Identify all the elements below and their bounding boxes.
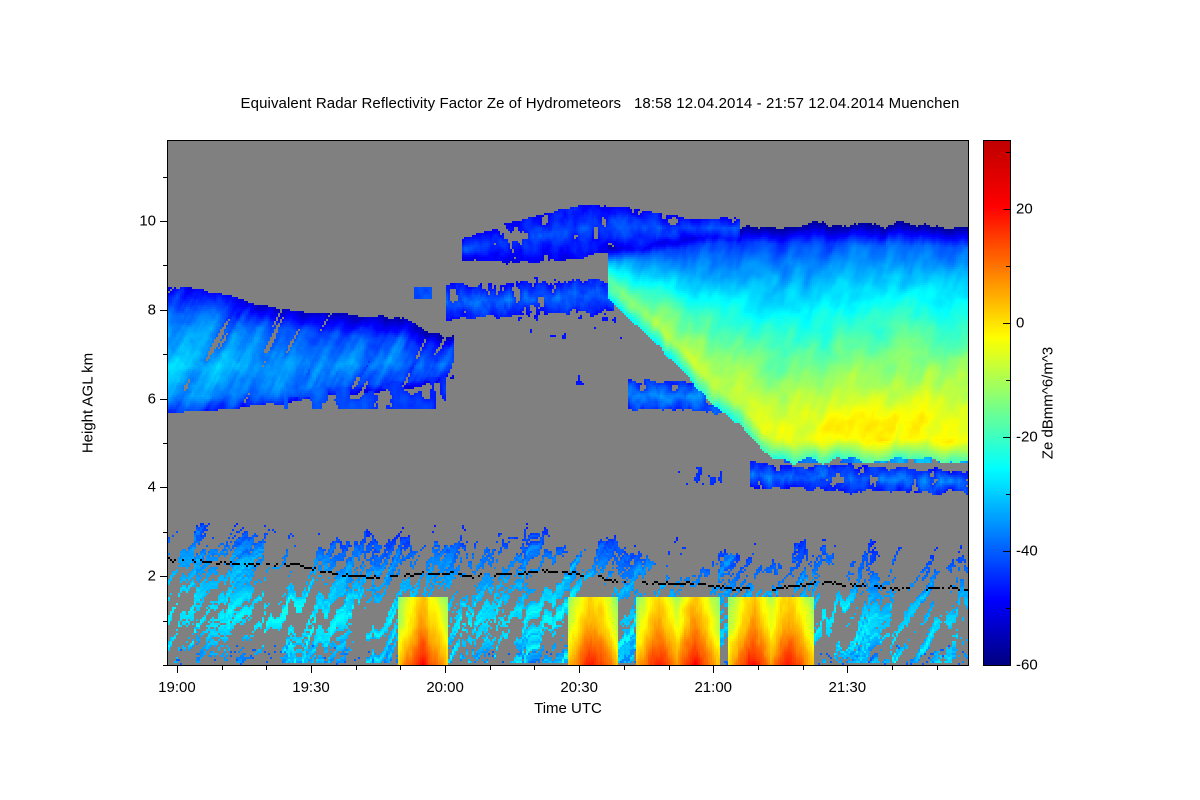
y-tick-label: 6 (116, 390, 156, 407)
reflectivity-heatmap (168, 141, 968, 665)
colorbar-tick-major (1003, 437, 1010, 438)
x-tick-minor (937, 665, 938, 670)
y-tick-major (160, 576, 168, 577)
x-tick-label: 19:00 (137, 679, 217, 696)
x-tick-minor (534, 665, 535, 670)
x-tick-major (445, 665, 446, 673)
colorbar-tick-label: 20 (1016, 201, 1033, 218)
y-tick-label: 10 (116, 212, 156, 229)
colorbar-tick-minor (1006, 494, 1010, 495)
y-tick-minor (163, 443, 168, 444)
x-tick-label: 21:00 (673, 679, 753, 696)
colorbar-gradient (984, 141, 1010, 665)
x-tick-major (177, 665, 178, 673)
y-tick-minor (163, 665, 168, 666)
colorbar-tick-minor (1006, 152, 1010, 153)
y-tick-label: 8 (116, 301, 156, 318)
colorbar-tick-minor (1006, 266, 1010, 267)
colorbar-title: Ze dBmm^6/m^3 (1040, 347, 1057, 459)
colorbar-tick-minor (1006, 608, 1010, 609)
colorbar-tick-major (1003, 551, 1010, 552)
colorbar-tick-label: 0 (1016, 315, 1024, 332)
x-tick-minor (803, 665, 804, 670)
colorbar-tick-minor (1006, 380, 1010, 381)
x-tick-minor (266, 665, 267, 670)
x-tick-minor (400, 665, 401, 670)
x-tick-major (579, 665, 580, 673)
x-tick-label: 20:00 (405, 679, 485, 696)
x-axis-title: Time UTC (534, 700, 602, 717)
colorbar-tick-label: -60 (1016, 657, 1038, 674)
y-tick-minor (163, 354, 168, 355)
colorbar-tick-major (1003, 665, 1010, 666)
y-tick-label: 4 (116, 479, 156, 496)
y-tick-major (160, 399, 168, 400)
y-tick-minor (163, 621, 168, 622)
x-tick-label: 21:30 (807, 679, 887, 696)
x-tick-label: 19:30 (271, 679, 351, 696)
x-tick-major (311, 665, 312, 673)
x-tick-minor (222, 665, 223, 670)
y-tick-major (160, 487, 168, 488)
radar-reflectivity-figure: Equivalent Radar Reflectivity Factor Ze … (0, 0, 1200, 800)
colorbar-tick-major (1003, 209, 1010, 210)
y-tick-label: 2 (116, 568, 156, 585)
x-tick-minor (758, 665, 759, 670)
y-tick-major (160, 310, 168, 311)
colorbar-tick-label: -40 (1016, 543, 1038, 560)
x-tick-minor (669, 665, 670, 670)
y-tick-major (160, 221, 168, 222)
x-tick-major (847, 665, 848, 673)
y-tick-minor (163, 532, 168, 533)
page-title: Equivalent Radar Reflectivity Factor Ze … (0, 95, 1200, 112)
x-tick-minor (624, 665, 625, 670)
x-tick-minor (356, 665, 357, 670)
colorbar-tick-major (1003, 323, 1010, 324)
y-axis-title: Height AGL km (80, 353, 97, 453)
x-tick-label: 20:30 (539, 679, 619, 696)
x-tick-major (713, 665, 714, 673)
x-tick-minor (892, 665, 893, 670)
y-tick-minor (163, 265, 168, 266)
colorbar-tick-label: -20 (1016, 429, 1038, 446)
x-tick-minor (490, 665, 491, 670)
y-tick-minor (163, 177, 168, 178)
